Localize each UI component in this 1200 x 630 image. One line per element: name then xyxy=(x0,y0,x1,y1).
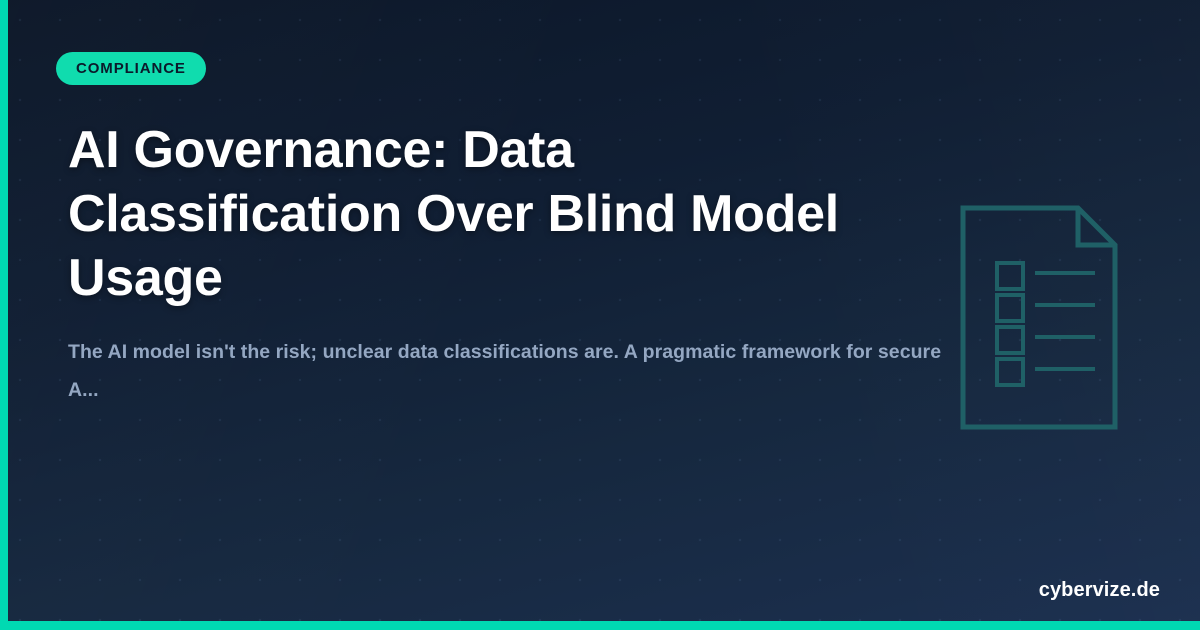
accent-border-bottom xyxy=(0,621,1200,630)
document-checklist-icon xyxy=(960,205,1130,435)
checkbox-square-icon xyxy=(997,359,1023,385)
document-outline-shape xyxy=(963,208,1115,427)
page-title: AI Governance: Data Classification Over … xyxy=(68,118,898,310)
checkbox-square-icon xyxy=(997,295,1023,321)
accent-border-left xyxy=(0,0,8,630)
checkbox-square-icon xyxy=(997,327,1023,353)
site-domain-label: cybervize.de xyxy=(1039,579,1160,602)
folded-corner-diagonal-icon xyxy=(1079,209,1114,244)
checkbox-square-icon xyxy=(997,263,1023,289)
page-subtitle: The AI model isn't the risk; unclear dat… xyxy=(68,333,968,409)
card-content: COMPLIANCE AI Governance: Data Classific… xyxy=(0,0,1200,630)
category-badge: COMPLIANCE xyxy=(56,52,206,85)
social-share-card: COMPLIANCE AI Governance: Data Classific… xyxy=(0,0,1200,630)
